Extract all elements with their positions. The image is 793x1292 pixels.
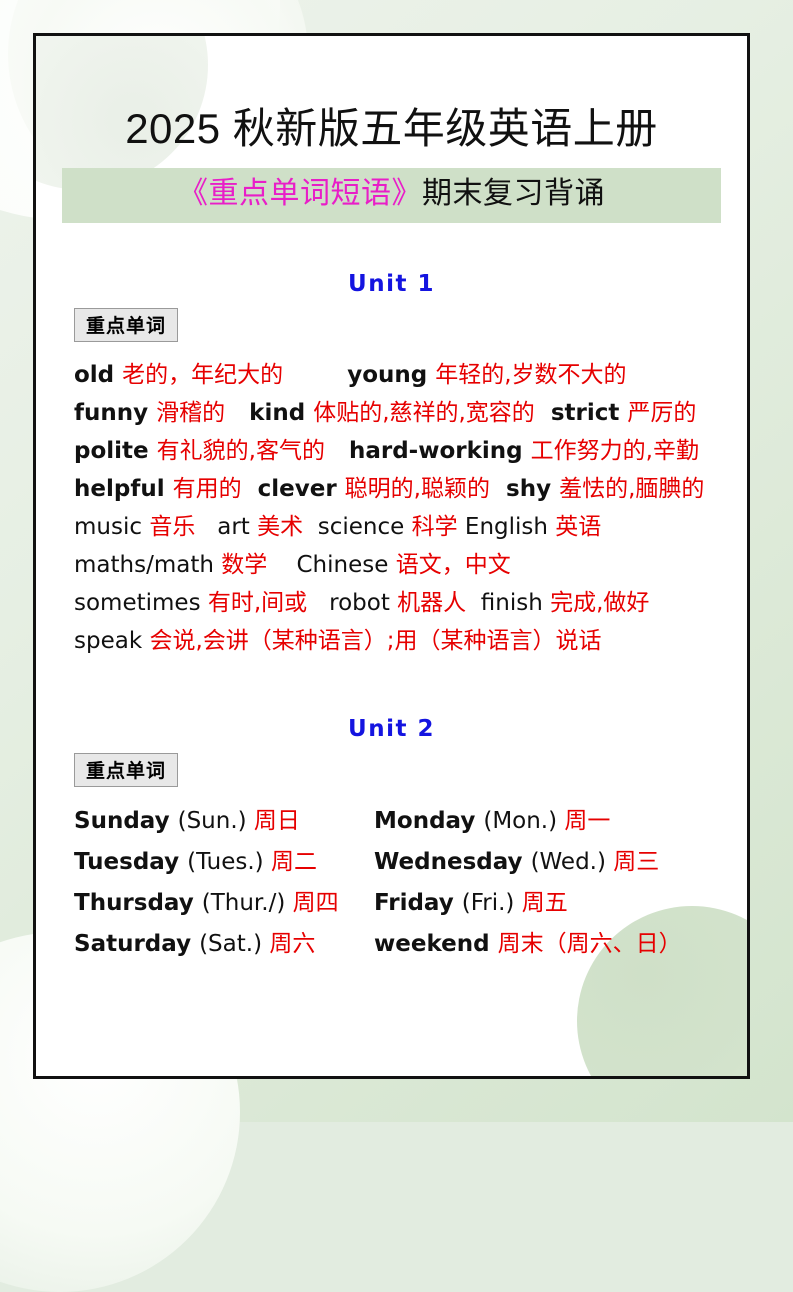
vocab-word-chinese: 有礼貌的,客气的	[157, 438, 325, 464]
vocab-word-english: speak	[74, 628, 149, 654]
unit-heading-1: Unit 1	[36, 271, 747, 297]
unit-heading-2: Unit 2	[36, 716, 747, 742]
section-badge-unit-1: 重点单词	[74, 308, 178, 342]
weekday-abbreviation: (Wed.)	[531, 849, 614, 875]
vocabulary-line: maths/math 数学 Chinese 语文，中文	[74, 546, 747, 584]
vocabulary-list-unit-1: old 老的，年纪大的 young 年轻的,岁数不大的funny 滑稽的 kin…	[36, 356, 747, 660]
vocab-word-english: robot	[307, 590, 397, 616]
weekday-abbreviation: (Sun.)	[178, 808, 254, 834]
vocab-word-english: hard-working	[325, 438, 531, 464]
weekday-name-english: Wednesday	[374, 849, 531, 875]
vocab-word-english: polite	[74, 438, 157, 464]
vocab-word-english: science	[303, 514, 411, 540]
weekday-abbreviation: (Sat.)	[199, 931, 269, 957]
vocabulary-line: polite 有礼貌的,客气的 hard-working 工作努力的,辛勤	[74, 432, 747, 470]
weekday-entry: weekend 周末（周六、日）	[374, 924, 714, 965]
vocab-word-english: clever	[242, 476, 345, 502]
vocab-word-english: funny	[74, 400, 156, 426]
weekday-entry: Thursday (Thur./) 周四	[74, 883, 374, 924]
weekday-entry: Sunday (Sun.) 周日	[74, 801, 374, 842]
weekday-name-english: weekend	[374, 931, 498, 957]
page-title: 2025 秋新版五年级英语上册	[36, 106, 747, 152]
document-content: 2025 秋新版五年级英语上册 《重点单词短语》期末复习背诵 Unit 1 重点…	[36, 106, 747, 965]
vocabulary-line: sometimes 有时,间或 robot 机器人 finish 完成,做好	[74, 584, 747, 622]
vocab-word-english: English	[458, 514, 556, 540]
vocabulary-line: speak 会说,会讲（某种语言）;用（某种语言）说话	[74, 622, 747, 660]
weekday-list-unit-2: Sunday (Sun.) 周日Monday (Mon.) 周一Tuesday …	[36, 801, 747, 965]
subtitle-rest-text: 期末复习背诵	[422, 177, 605, 210]
vocab-word-chinese: 老的，年纪大的	[122, 362, 283, 388]
vocab-word-english: kind	[225, 400, 313, 426]
badge-row-unit-1: 重点单词	[36, 308, 747, 342]
weekday-name-chinese: 周日	[254, 808, 300, 834]
vocab-word-chinese: 完成,做好	[550, 590, 649, 616]
weekday-name-english: Friday	[374, 890, 462, 916]
weekday-name-chinese: 周二	[271, 849, 317, 875]
vocab-word-english: shy	[490, 476, 559, 502]
weekday-entry: Saturday (Sat.) 周六	[74, 924, 374, 965]
vocab-word-chinese: 科学	[412, 514, 458, 540]
vocabulary-line: music 音乐 art 美术 science 科学 English 英语	[74, 508, 747, 546]
weekday-abbreviation: (Thur./)	[202, 890, 293, 916]
weekday-name-english: Monday	[374, 808, 483, 834]
vocab-word-chinese: 美术	[257, 514, 303, 540]
vocab-word-chinese: 数学	[221, 552, 267, 578]
vocabulary-line: helpful 有用的 clever 聪明的,聪颖的 shy 羞怯的,腼腆的	[74, 470, 747, 508]
weekday-entry: Tuesday (Tues.) 周二	[74, 842, 374, 883]
weekday-name-chinese: 周五	[522, 890, 568, 916]
vocab-word-english: strict	[535, 400, 628, 426]
vocabulary-line: funny 滑稽的 kind 体贴的,慈祥的,宽容的 strict 严厉的	[74, 394, 747, 432]
weekday-abbreviation: (Mon.)	[483, 808, 564, 834]
weekday-abbreviation: (Tues.)	[187, 849, 271, 875]
weekday-name-chinese: 周六	[269, 931, 315, 957]
vocab-word-english: music	[74, 514, 149, 540]
vocab-word-chinese: 聪明的,聪颖的	[345, 476, 490, 502]
vocab-word-chinese: 语文，中文	[396, 552, 511, 578]
weekday-name-chinese: 周四	[293, 890, 339, 916]
weekday-name-english: Thursday	[74, 890, 202, 916]
vocab-word-english: helpful	[74, 476, 173, 502]
weekday-entry: Wednesday (Wed.) 周三	[374, 842, 714, 883]
vocab-word-english: Chinese	[267, 552, 395, 578]
badge-row-unit-2: 重点单词	[36, 753, 747, 787]
vocab-word-chinese: 有时,间或	[208, 590, 307, 616]
weekday-entry: Monday (Mon.) 周一	[374, 801, 714, 842]
section-badge-unit-2: 重点单词	[74, 753, 178, 787]
vocab-word-chinese: 会说,会讲（某种语言）;用（某种语言）说话	[149, 628, 601, 654]
vocab-word-english: finish	[466, 590, 550, 616]
weekday-row: Saturday (Sat.) 周六weekend 周末（周六、日）	[74, 924, 747, 965]
document-sheet: 2025 秋新版五年级英语上册 《重点单词短语》期末复习背诵 Unit 1 重点…	[33, 33, 750, 1079]
subtitle-bracket-text: 《重点单词短语》	[178, 177, 422, 210]
weekday-name-english: Tuesday	[74, 849, 187, 875]
vocab-word-english: young	[283, 362, 435, 388]
weekday-abbreviation: (Fri.)	[462, 890, 522, 916]
vocab-word-chinese: 体贴的,慈祥的,宽容的	[313, 400, 535, 426]
vocab-word-english: sometimes	[74, 590, 208, 616]
vocab-word-chinese: 年轻的,岁数不大的	[435, 362, 626, 388]
vocab-word-english: maths/math	[74, 552, 221, 578]
weekday-row: Tuesday (Tues.) 周二Wednesday (Wed.) 周三	[74, 842, 747, 883]
vocab-word-chinese: 严厉的	[627, 400, 696, 426]
weekday-name-chinese: 周末（周六、日）	[498, 931, 682, 957]
weekday-row: Sunday (Sun.) 周日Monday (Mon.) 周一	[74, 801, 747, 842]
weekday-name-chinese: 周一	[564, 808, 610, 834]
weekday-name-chinese: 周三	[613, 849, 659, 875]
vocab-word-chinese: 英语	[555, 514, 601, 540]
vocab-word-english: art	[195, 514, 257, 540]
vocab-word-english: old	[74, 362, 122, 388]
vocab-word-chinese: 机器人	[397, 590, 466, 616]
vocab-word-chinese: 音乐	[149, 514, 195, 540]
vocab-word-chinese: 羞怯的,腼腆的	[559, 476, 704, 502]
subtitle-banner: 《重点单词短语》期末复习背诵	[62, 168, 721, 223]
vocabulary-line: old 老的，年纪大的 young 年轻的,岁数不大的	[74, 356, 747, 394]
vocab-word-chinese: 滑稽的	[156, 400, 225, 426]
weekday-row: Thursday (Thur./) 周四Friday (Fri.) 周五	[74, 883, 747, 924]
weekday-entry: Friday (Fri.) 周五	[374, 883, 714, 924]
weekday-name-english: Sunday	[74, 808, 178, 834]
vocab-word-chinese: 工作努力的,辛勤	[531, 438, 699, 464]
vocab-word-chinese: 有用的	[173, 476, 242, 502]
weekday-name-english: Saturday	[74, 931, 199, 957]
